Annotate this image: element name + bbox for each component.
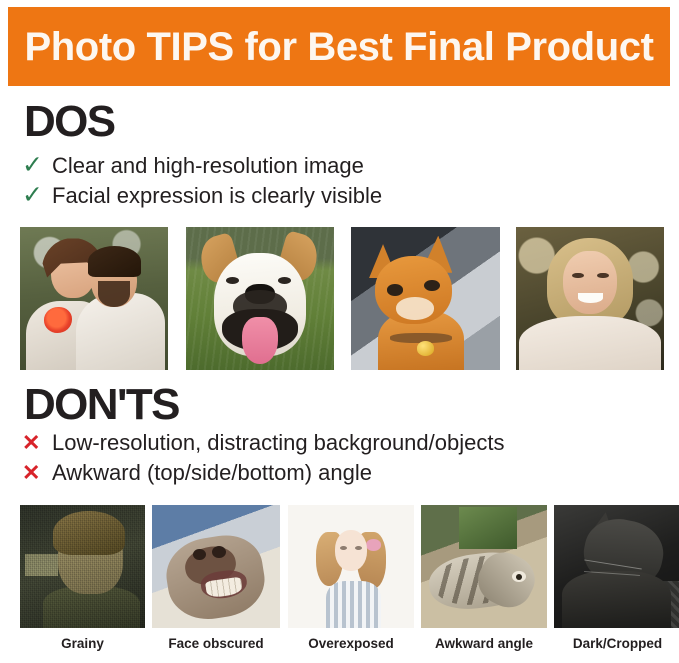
photo-smiling-white-dog [186,227,334,370]
photo-shape [563,251,616,314]
photo-grain-overlay [20,505,145,628]
photo-shape [355,546,363,550]
dos-bullet-list: ✓ Clear and high-resolution image ✓ Faci… [22,150,382,210]
photo-dark-cropped-cat [554,505,679,628]
photo-shape [212,546,226,558]
photo-shape [396,297,435,320]
check-icon: ✓ [22,150,52,180]
photo-shape [340,546,348,550]
photo-shape [242,317,278,364]
page-title: Photo TIPS for Best Final Product [24,27,653,67]
donts-photo-cell: Dark/Cropped [554,505,679,651]
photo-shape [459,507,517,549]
infographic-page: Photo TIPS for Best Final Product DOS ✓ … [0,0,679,663]
photo-caption: Grainy [61,636,104,651]
dos-bullet-item: ✓ Facial expression is clearly visible [22,180,382,210]
photo-caption: Overexposed [308,636,394,651]
donts-section-heading: DON'TS [24,383,179,427]
photo-shape [562,571,671,628]
donts-bullet-list: ✕ Low-resolution, distracting background… [22,428,504,488]
photo-overexposed-girl [288,505,414,628]
photo-shape [387,284,403,295]
photo-shape [516,574,522,580]
header-banner: Photo TIPS for Best Final Product [8,7,670,86]
photo-caption: Awkward angle [435,636,533,651]
check-icon: ✓ [22,180,52,210]
photo-shape [417,341,435,355]
photo-cat-awkward-angle [421,505,547,628]
photo-shape [88,246,141,277]
photo-orange-tabby-cat [351,227,500,370]
cross-icon: ✕ [22,458,52,488]
donts-bullet-label: Low-resolution, distracting background/o… [52,428,504,458]
photo-grainy-boy-photo [20,505,145,628]
photo-shape [519,316,661,370]
dos-photo-cell [20,227,168,370]
photo-smiling-blonde-woman [516,227,664,370]
photo-caption: Dark/Cropped [573,636,662,651]
dos-bullet-item: ✓ Clear and high-resolution image [22,150,382,180]
photo-shape [366,539,381,550]
dos-bullet-label: Facial expression is clearly visible [52,181,382,211]
donts-photo-cell: Awkward angle [421,505,547,651]
photo-caption: Face obscured [168,636,263,651]
dos-photo-cell [516,227,664,370]
donts-bullet-item: ✕ Awkward (top/side/bottom) angle [22,458,504,488]
donts-photo-cell: Overexposed [288,505,414,651]
donts-bullet-label: Awkward (top/side/bottom) angle [52,458,372,488]
photo-shape [578,293,603,303]
dos-bullet-label: Clear and high-resolution image [52,151,364,181]
dos-photo-cell [351,227,500,370]
dos-photo-row [20,227,664,370]
donts-photo-row: Grainy Face obscured [20,505,679,651]
photo-shape [335,530,368,572]
cross-icon: ✕ [22,428,52,458]
photo-dog-face-obscured [152,505,280,628]
photo-shape [98,281,129,307]
donts-photo-cell: Face obscured [152,505,280,651]
photo-shape [44,307,72,333]
photo-smiling-couple-outdoors [20,227,168,370]
donts-photo-cell: Grainy [20,505,145,651]
dos-section-heading: DOS [24,100,115,144]
photo-shape [326,581,381,628]
donts-bullet-item: ✕ Low-resolution, distracting background… [22,428,504,458]
dos-photo-cell [186,227,334,370]
